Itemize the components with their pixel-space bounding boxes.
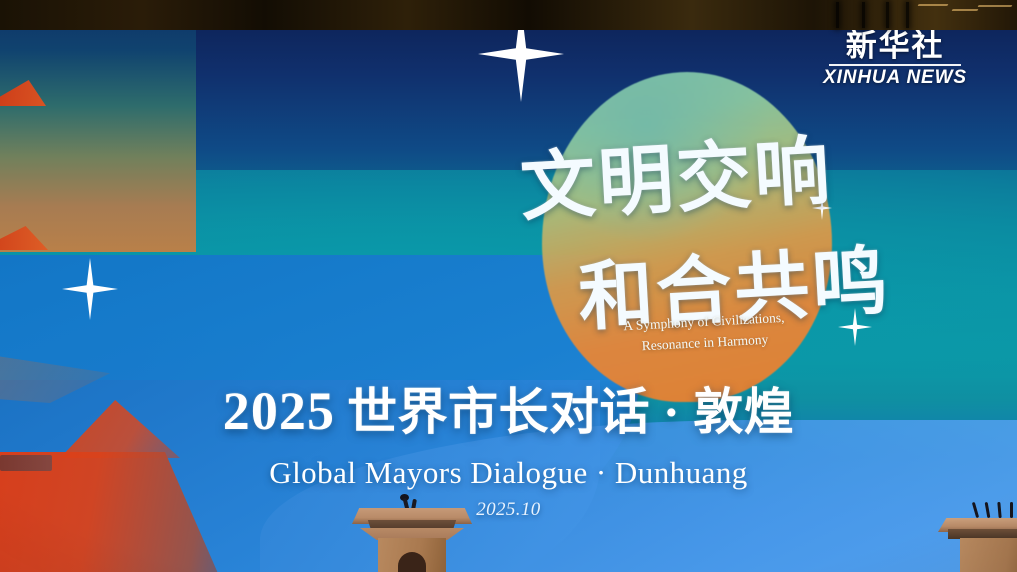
ceiling-truss-strip [0,0,1017,30]
truss-bar [906,2,909,28]
event-title-cn: 世界市长对话 · 敦煌 [347,384,794,440]
podium-body [960,538,1017,572]
ceiling-light-streak [951,9,978,11]
watermark-cn: 新华社 [820,30,970,61]
microphone-icon [997,502,1001,518]
truss-bar [836,2,839,28]
speaker-podium-left [352,500,472,572]
watermark-rule [829,64,961,66]
event-title-row: 2025世界市长对话 · 敦煌 [0,372,1017,444]
ceiling-light-streak [917,4,948,6]
conference-stage-photo: 文明交响 和合共鸣 A Symphony of Civilizations, R… [0,0,1017,572]
truss-bar [862,2,865,28]
tagline-en: A Symphony of Civilizations, Resonance i… [611,307,798,358]
ceiling-light-streak [977,5,1012,7]
truss-bar [886,2,889,28]
microphone-icon [1010,502,1013,518]
watermark-en: XINHUA NEWS [820,68,970,87]
xinhua-watermark: 新华社 XINHUA NEWS [820,30,970,92]
event-title-en: Global Mayors Dialogue · Dunhuang [0,455,1017,491]
podium-arch-niche [398,552,426,572]
microphone-icon [972,502,979,518]
event-year: 2025 [223,381,335,441]
event-date: 2025.10 [0,499,1017,521]
foreground-dark-object [0,455,52,471]
headline-cn-line1: 文明交响 [517,109,835,235]
microphone-icon [985,502,991,518]
speaker-podium-right [938,506,1017,572]
